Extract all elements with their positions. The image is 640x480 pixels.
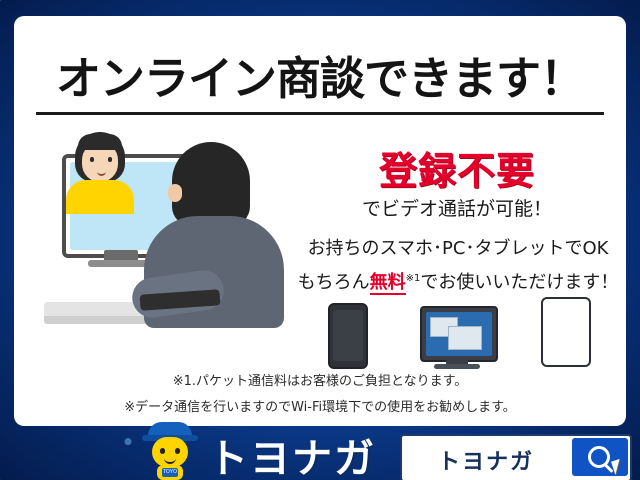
woman-body [66, 180, 134, 214]
bottom-brand-bar: TOYO トヨナガ トヨナガ [0, 420, 640, 480]
woman-bangs [78, 134, 122, 150]
man-ear [168, 184, 182, 202]
smartphone-icon [328, 303, 368, 369]
mascot-eye-left [160, 448, 165, 454]
feature-line-devices: お持ちのスマホ･PC･タブレットでOK [286, 234, 630, 260]
search-button[interactable] [572, 438, 628, 476]
free-footnote-marker: ※1 [406, 273, 421, 284]
pc-screen [426, 312, 492, 356]
pc-foot [434, 364, 480, 369]
free-highlight: 無料 [370, 272, 406, 295]
mouse-cursor-icon [611, 459, 624, 475]
free-suffix: でお使いいただけます！ [420, 272, 618, 293]
search-box[interactable]: トヨナガ [400, 434, 632, 480]
white-content-card: オンライン商談できます！ 登録不要 でビデオ通話が可能！ [14, 16, 626, 426]
pc-window-2 [448, 326, 482, 350]
footnote-packet-fee: ※1.パケット通信料はお客様のご負担となります。 [14, 370, 626, 389]
registration-badge: 登録不要 [292, 140, 622, 195]
feature-line-video-call: でビデオ通話が可能！ [292, 194, 622, 221]
feature-line-free: もちろん無料※1でお使いいただけます！ [286, 268, 630, 294]
title-divider [36, 112, 604, 115]
footnote-wifi: ※データ通信を行いますのでWi-Fi環境下での使用をお勧めします。 [14, 396, 626, 415]
woman-eye-left [90, 157, 94, 162]
page-title: オンライン商談できます！ [14, 42, 626, 107]
mascot-badge: TOYO [162, 468, 178, 477]
toyonaga-mascot-icon: TOYO [140, 422, 200, 480]
video-call-illustration [44, 124, 294, 354]
advertisement-banner: オンライン商談できます！ 登録不要 でビデオ通話が可能！ [0, 0, 640, 480]
desktop-pc-icon [420, 306, 498, 362]
free-prefix: もちろん [298, 272, 370, 293]
woman-eye-right [108, 157, 112, 162]
tablet-icon [541, 297, 591, 367]
man-hair [172, 142, 250, 226]
search-input[interactable]: トヨナガ [438, 444, 534, 476]
brand-name: トヨナガ [208, 426, 376, 480]
mascot-eye-right [175, 448, 180, 454]
